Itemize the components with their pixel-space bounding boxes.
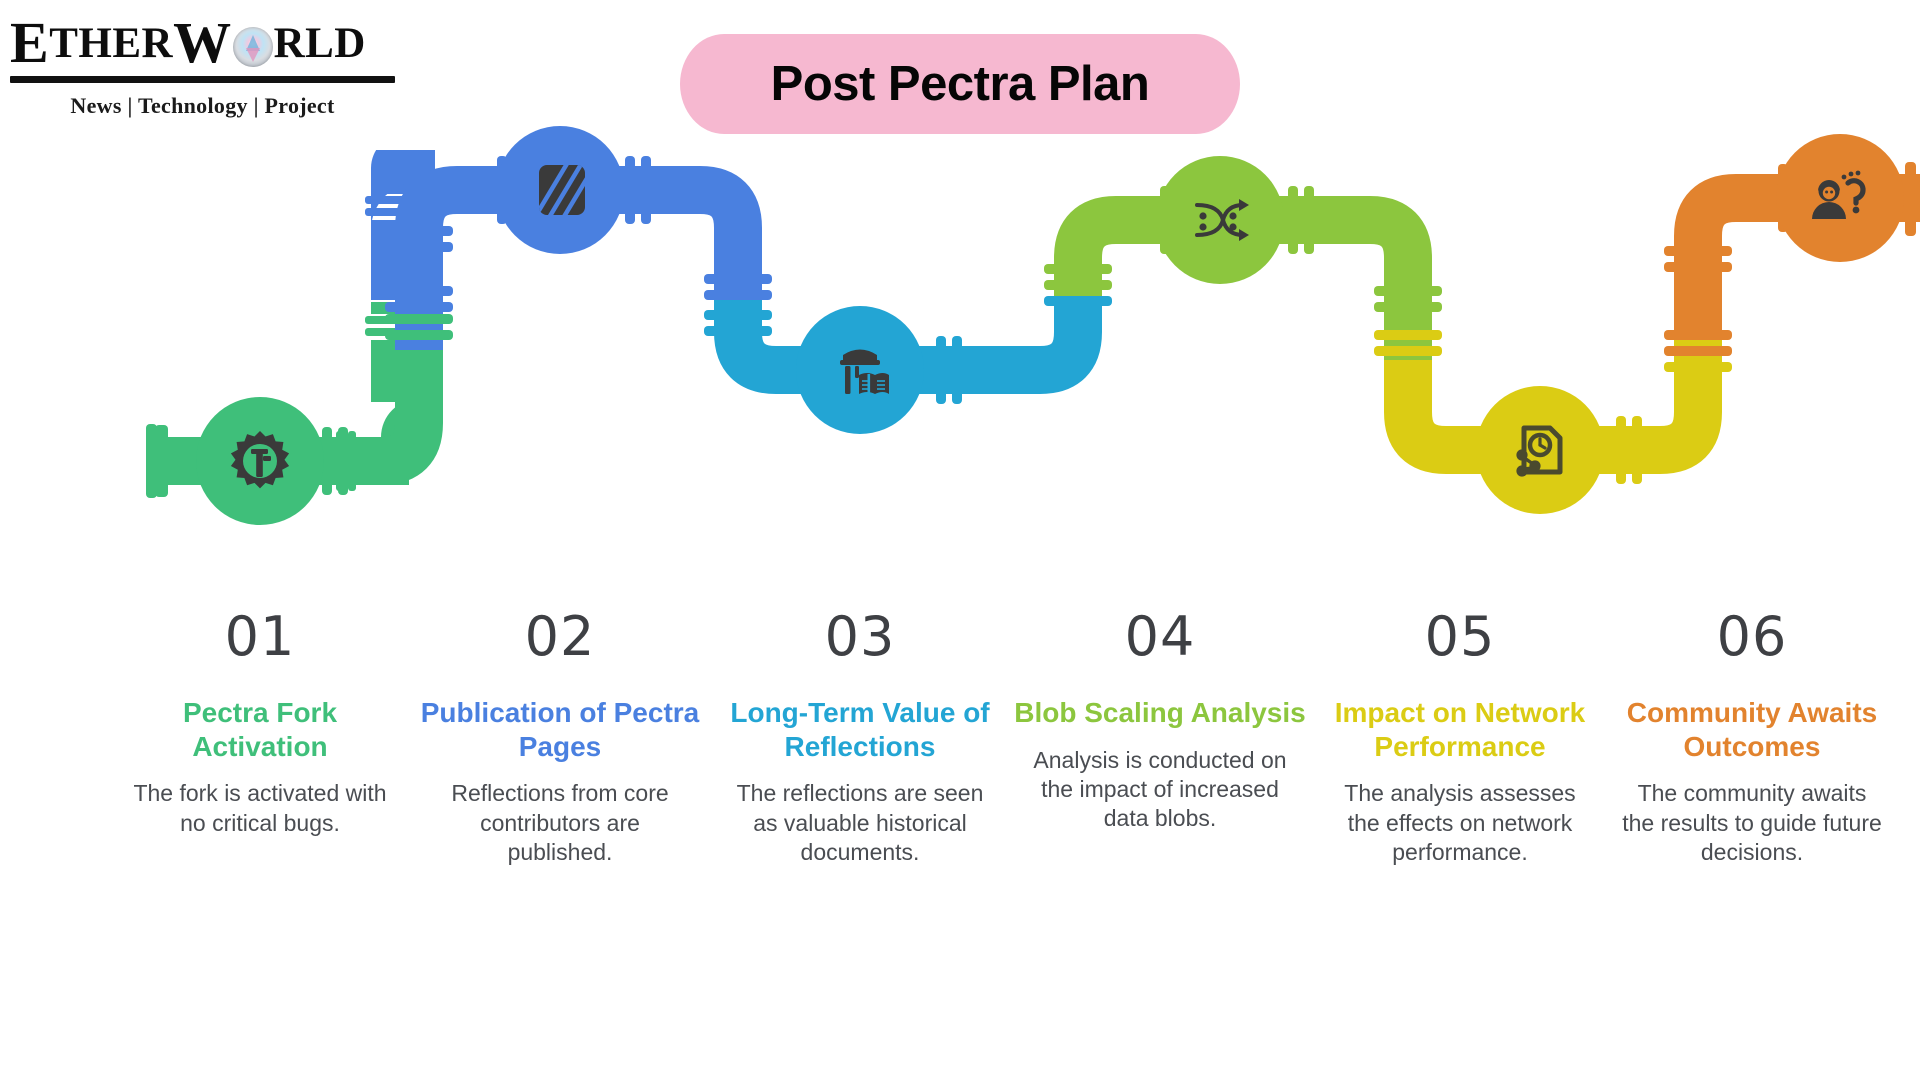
ethereum-globe-icon (233, 27, 273, 67)
logo-wordmark: ETHERWRLD (10, 14, 410, 72)
step-description: The analysis assesses the effects on net… (1312, 779, 1608, 867)
step-node-01[interactable] (196, 397, 324, 525)
step-number: 03 (712, 610, 1008, 664)
step-title: Long-Term Value of Reflections (712, 696, 1008, 763)
title-banner: Post Pectra Plan (680, 34, 1240, 134)
step-title: Impact on Network Performance (1312, 696, 1608, 763)
step-column-02: 02 Publication of Pectra Pages Reflectio… (412, 610, 708, 868)
step-node-04[interactable] (1156, 156, 1284, 284)
step-node-05[interactable] (1476, 386, 1604, 514)
logo-tagline: News | Technology | Project (10, 93, 395, 119)
step-title: Blob Scaling Analysis (1012, 696, 1308, 730)
step-column-06: 06 Community Awaits Outcomes The communi… (1604, 610, 1900, 868)
step-number: 05 (1312, 610, 1608, 664)
step-title: Pectra Fork Activation (112, 696, 408, 763)
shuffle-arrows-icon (1183, 183, 1257, 257)
step-description: The reflections are seen as valuable his… (712, 779, 1008, 867)
step-node-02[interactable] (496, 126, 624, 254)
step-title: Community Awaits Outcomes (1604, 696, 1900, 763)
page-title: Post Pectra Plan (680, 34, 1240, 134)
step-column-05: 05 Impact on Network Performance The ana… (1312, 610, 1608, 868)
step-number: 06 (1604, 610, 1900, 664)
step-description: The community awaits the results to guid… (1604, 779, 1900, 867)
step-number: 04 (1012, 610, 1308, 664)
logo-divider (10, 76, 395, 83)
striped-document-icon (525, 155, 595, 225)
step-column-01: 01 Pectra Fork Activation The fork is ac… (112, 610, 408, 838)
logo-letter-w: W (173, 14, 232, 72)
person-question-icon (1803, 161, 1877, 235)
step-number: 01 (112, 610, 408, 664)
etherworld-logo[interactable]: ETHERWRLD News | Technology | Project (10, 14, 410, 119)
archive-book-icon (825, 335, 895, 405)
pipeline-svg (0, 150, 1920, 620)
report-clock-share-icon (1504, 414, 1576, 486)
step-description: Analysis is conducted on the impact of i… (1012, 746, 1308, 834)
gear-fork-icon (224, 425, 296, 497)
logo-letter-e: E (10, 14, 49, 72)
step-column-03: 03 Long-Term Value of Reflections The re… (712, 610, 1008, 868)
logo-letters-ther: THER (49, 22, 173, 65)
steps-legend: 01 Pectra Fork Activation The fork is ac… (0, 610, 1920, 1040)
step-description: The fork is activated with no critical b… (112, 779, 408, 838)
pipeline-diagram (0, 150, 1920, 620)
step-node-06[interactable] (1776, 134, 1904, 262)
step-number: 02 (412, 610, 708, 664)
logo-letters-rld: RLD (274, 22, 366, 65)
step-description: Reflections from core contributors are p… (412, 779, 708, 867)
step-title: Publication of Pectra Pages (412, 696, 708, 763)
step-node-03[interactable] (796, 306, 924, 434)
step-column-04: 04 Blob Scaling Analysis Analysis is con… (1012, 610, 1308, 834)
page-header: ETHERWRLD News | Technology | Project Po… (0, 0, 1920, 150)
